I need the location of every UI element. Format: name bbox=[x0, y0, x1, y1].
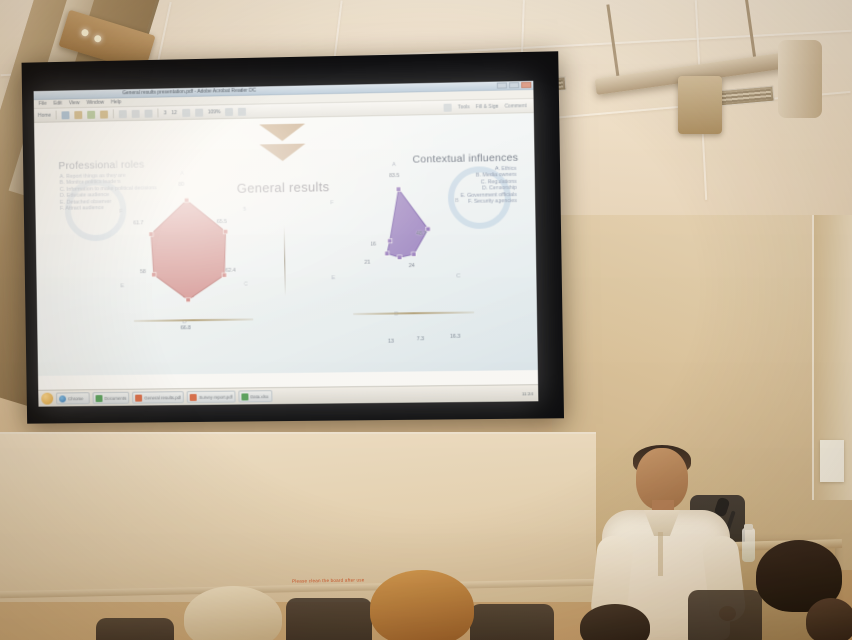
pdf-slide-page: General results Professional roles A. Re… bbox=[34, 113, 538, 376]
radar-left-svg bbox=[112, 178, 263, 330]
taskbar-item-acrobat-1[interactable]: General results.pdf bbox=[132, 391, 184, 404]
audience-head bbox=[806, 598, 852, 640]
whiteboard bbox=[0, 432, 596, 602]
presenter-placket bbox=[658, 532, 663, 576]
acrobat-icon bbox=[135, 394, 142, 401]
audience-head bbox=[370, 570, 474, 640]
taskbar-label: Documents bbox=[104, 395, 126, 400]
projected-pdf-window[interactable]: General results presentation.pdf - Adobe… bbox=[34, 81, 539, 407]
tools-button[interactable]: Tools bbox=[458, 104, 470, 110]
home-tab[interactable]: Home bbox=[38, 112, 51, 118]
value-label-d-right: 16.3 bbox=[450, 334, 460, 340]
axis-label-c: C bbox=[456, 273, 460, 279]
open-file-icon[interactable] bbox=[62, 111, 70, 119]
value-label-a: 83.5 bbox=[389, 173, 399, 179]
value-label-c: 24 bbox=[409, 263, 415, 269]
value-label-e: 21 bbox=[364, 260, 370, 266]
seat-back bbox=[470, 604, 554, 640]
rotate-icon[interactable] bbox=[238, 107, 246, 115]
zoom-out-icon[interactable] bbox=[182, 108, 190, 116]
maximize-button[interactable] bbox=[509, 82, 519, 88]
menu-help[interactable]: Help bbox=[111, 99, 121, 105]
zoom-level-value[interactable]: 109% bbox=[208, 109, 221, 115]
axis-label-f: F bbox=[119, 209, 122, 215]
panel-divider bbox=[284, 226, 286, 296]
menu-window[interactable]: Window bbox=[86, 100, 104, 106]
toolbar-separator bbox=[56, 111, 57, 120]
acrobat-icon bbox=[190, 393, 197, 400]
taskbar-clock: 11:24 bbox=[522, 391, 535, 396]
footer-value-1: 13 bbox=[388, 339, 394, 345]
right-panel-heading: Contextual influences bbox=[412, 152, 518, 166]
value-label-b: 65.5 bbox=[217, 219, 227, 225]
comment-button[interactable]: Comment bbox=[505, 103, 527, 109]
seat-back bbox=[688, 590, 762, 640]
seat-back bbox=[96, 618, 174, 640]
page-current-field[interactable]: 3 bbox=[164, 110, 167, 116]
taskbar-label: General results.pdf bbox=[144, 395, 181, 400]
window-controls[interactable] bbox=[497, 82, 532, 89]
water-bottle bbox=[742, 528, 755, 562]
add-note-icon[interactable] bbox=[132, 109, 140, 117]
taskbar-label: Survey report.pdf bbox=[199, 394, 233, 399]
taskbar-item-explorer[interactable]: Documents bbox=[93, 392, 130, 404]
axis-label-a: A bbox=[180, 171, 184, 177]
menu-view[interactable]: View bbox=[69, 100, 80, 106]
value-label-d-left: 66.8 bbox=[181, 325, 191, 331]
fit-page-icon[interactable] bbox=[225, 107, 233, 115]
axis-label-c: C bbox=[244, 282, 248, 288]
double-chevron-down-icon bbox=[259, 124, 306, 165]
radar-right-polygon bbox=[386, 189, 428, 258]
search-icon[interactable] bbox=[444, 103, 452, 111]
value-label-f: 16 bbox=[370, 242, 376, 248]
fill-sign-button[interactable]: Fill & Sign bbox=[476, 103, 499, 109]
footer-value-2: 7.3 bbox=[417, 336, 424, 342]
value-label-e: 58 bbox=[140, 269, 146, 275]
radar-chart-contextual-influences: A B C D E F 83.5 48.7 24 21 16 bbox=[323, 170, 476, 323]
radar-chart-professional-roles: A B C D E F 80 65.5 62.4 58 61.7 bbox=[112, 178, 263, 330]
email-icon[interactable] bbox=[100, 110, 108, 118]
value-label-b: 48.7 bbox=[416, 231, 426, 237]
taskbar-label: Chrome bbox=[68, 396, 83, 401]
close-button[interactable] bbox=[521, 82, 531, 88]
page-total-label: 12 bbox=[171, 110, 177, 116]
minimize-button[interactable] bbox=[497, 82, 507, 88]
taskbar-label: Data.xlsx bbox=[250, 394, 268, 399]
excel-icon bbox=[241, 393, 248, 400]
wall-notice bbox=[820, 440, 844, 482]
axis-label-b: B bbox=[242, 207, 246, 213]
water-bottle-cap bbox=[744, 524, 753, 530]
axis-label-f: F bbox=[330, 200, 333, 206]
taskbar-item-excel[interactable]: Data.xlsx bbox=[238, 390, 272, 402]
axis-label-b: B bbox=[455, 198, 459, 204]
radar-left-polygon bbox=[151, 200, 227, 301]
toolbar-separator bbox=[113, 109, 114, 118]
print-icon[interactable] bbox=[87, 110, 95, 118]
radar-right-svg bbox=[323, 170, 476, 323]
value-label-a: 80 bbox=[178, 182, 184, 188]
value-label-c: 62.4 bbox=[225, 268, 235, 274]
seat-back bbox=[286, 598, 372, 640]
ceiling-speaker bbox=[678, 76, 722, 134]
ceiling-cylinder-light bbox=[778, 40, 822, 118]
taskbar-item-acrobat-2[interactable]: Survey report.pdf bbox=[187, 391, 236, 404]
lecture-room-photo: General results presentation.pdf - Adobe… bbox=[0, 0, 852, 640]
menu-file[interactable]: File bbox=[39, 101, 47, 107]
chrome-icon bbox=[59, 395, 66, 402]
value-label-f: 61.7 bbox=[133, 220, 143, 226]
taskbar-item-chrome[interactable]: Chrome bbox=[56, 392, 90, 404]
axis-label-e: E bbox=[332, 275, 336, 281]
zoom-in-icon[interactable] bbox=[195, 108, 203, 116]
axis-label-a: A bbox=[392, 162, 396, 168]
undo-icon[interactable] bbox=[145, 109, 153, 117]
toolbar-separator bbox=[158, 108, 159, 117]
axis-label-e: E bbox=[120, 283, 124, 289]
left-panel-heading: Professional roles bbox=[58, 159, 144, 173]
menu-edit[interactable]: Edit bbox=[54, 100, 63, 106]
start-orb-icon[interactable] bbox=[41, 393, 53, 405]
highlight-icon[interactable] bbox=[119, 110, 127, 118]
explorer-icon bbox=[96, 395, 103, 402]
save-icon[interactable] bbox=[75, 111, 83, 119]
